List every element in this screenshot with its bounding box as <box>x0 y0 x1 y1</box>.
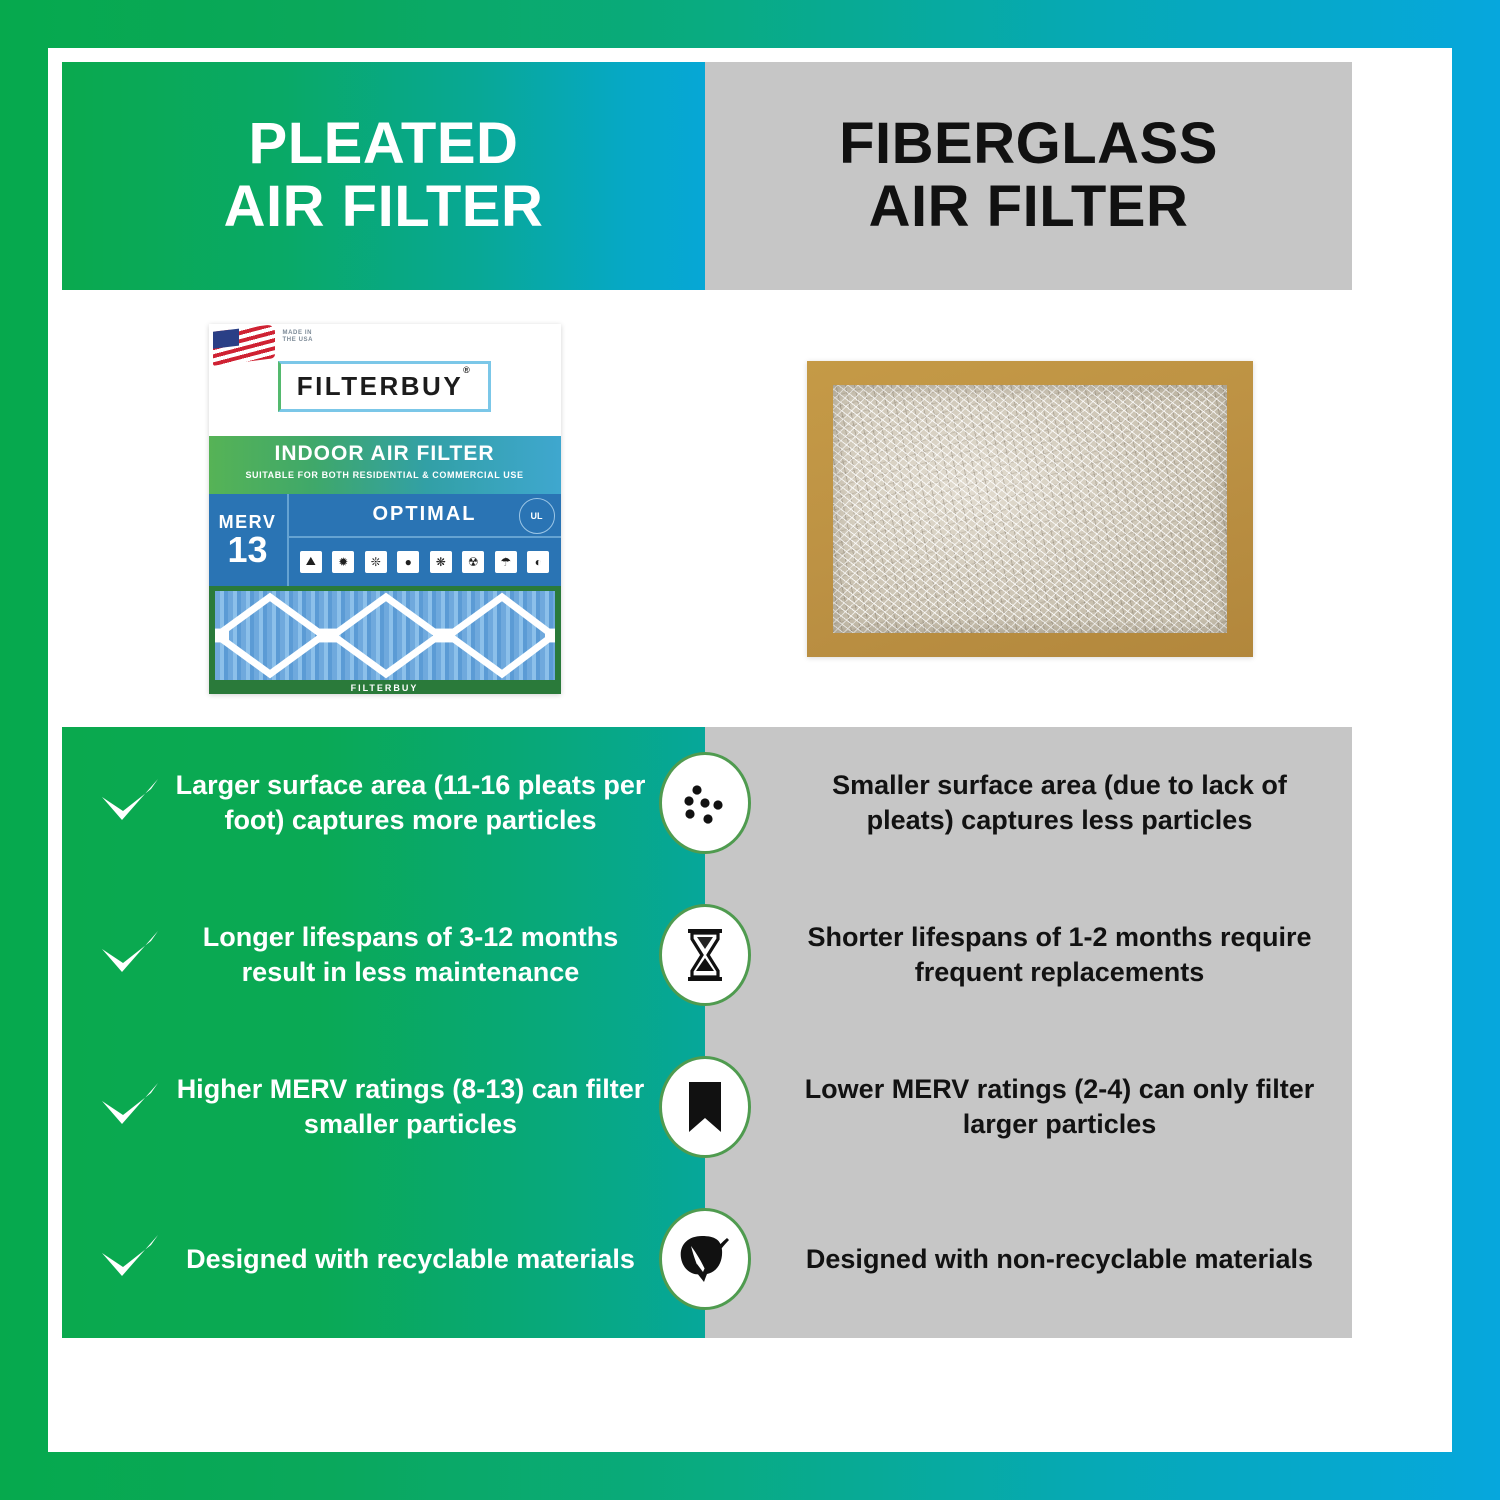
row-fiberglass-cell: Lower MERV ratings (2-4) can only filter… <box>705 1031 1352 1183</box>
header-fiberglass-title-line1: FIBERGLASS <box>839 113 1218 176</box>
product-image-row: MADE IN THE USA FILTERBUY® INDOOR AIR FI… <box>62 290 1352 727</box>
check-glyph <box>99 1233 161 1285</box>
eco-leaf-icon <box>659 1208 751 1310</box>
made-in-line1: MADE IN <box>283 330 314 338</box>
header-pleated-title-line2: AIR FILTER <box>224 176 544 239</box>
row-pleated-cell: Longer lifespans of 3-12 months result i… <box>62 879 705 1031</box>
row-fiberglass-text: Lower MERV ratings (2-4) can only filter… <box>795 1072 1324 1141</box>
pleated-media-area: FILTERBUY <box>209 586 561 694</box>
row-pleated-cell: Designed with recyclable materials <box>62 1183 705 1335</box>
pleated-package-top: MADE IN THE USA FILTERBUY® <box>209 324 561 436</box>
pleat-texture <box>215 591 555 680</box>
fiberglass-filter-image <box>807 361 1253 657</box>
usa-flag-icon <box>213 324 275 366</box>
registered-trademark-icon: ® <box>463 365 472 375</box>
row-fiberglass-cell: Smaller surface area (due to lack of ple… <box>705 727 1352 879</box>
bookmark-glyph <box>685 1080 725 1134</box>
row-pleated-cell: Larger surface area (11-16 pleats per fo… <box>62 727 705 879</box>
checkmark-icon <box>92 1233 168 1285</box>
row-pleated-text: Designed with recyclable materials <box>168 1242 705 1277</box>
smoke-smog-icon: ☂ <box>495 551 517 573</box>
header-fiberglass-title-line2: AIR FILTER <box>839 176 1218 239</box>
support-wire-icon <box>215 591 555 680</box>
ul-certification-icon: UL <box>519 498 555 534</box>
bacteria-icon: ☢ <box>462 551 484 573</box>
filterbuy-wordmark: FILTERBUY <box>297 371 463 401</box>
header-fiberglass-title: FIBERGLASS AIR FILTER <box>839 113 1218 238</box>
row-pleated-text: Higher MERV ratings (8-13) can filter sm… <box>168 1072 705 1141</box>
poster-content: PLEATED AIR FILTER FIBERGLASS AIR FILTER <box>62 62 1438 1438</box>
pleated-filter-image: MADE IN THE USA FILTERBUY® INDOOR AIR FI… <box>209 324 561 694</box>
hourglass-glyph <box>682 927 728 983</box>
pleated-footer-brand: FILTERBUY <box>209 683 561 693</box>
check-glyph <box>99 777 161 829</box>
pleated-product-cell: MADE IN THE USA FILTERBUY® INDOOR AIR FI… <box>62 290 707 727</box>
checkmark-icon <box>92 777 168 829</box>
filterbuy-logo-box: FILTERBUY® <box>278 361 492 412</box>
row-fiberglass-text: Smaller surface area (due to lack of ple… <box>795 768 1324 837</box>
pleated-package-specs: MERV 13 OPTIMAL ⛰ ✹ ❊ ● ❋ ☢ <box>209 494 561 586</box>
header-pleated-panel: PLEATED AIR FILTER <box>62 62 705 290</box>
row-pleated-text: Larger surface area (11-16 pleats per fo… <box>168 768 705 837</box>
row-pleated-text: Longer lifespans of 3-12 months result i… <box>168 920 705 989</box>
pleated-package-banner: INDOOR AIR FILTER SUITABLE FOR BOTH RESI… <box>209 436 561 494</box>
header-pleated-title-line1: PLEATED <box>224 113 544 176</box>
allergens-icon: ◐ <box>527 551 549 573</box>
pollen-icon: ❊ <box>365 551 387 573</box>
header-row: PLEATED AIR FILTER FIBERGLASS AIR FILTER <box>62 62 1352 290</box>
row-fiberglass-text: Designed with non-recyclable materials <box>795 1242 1324 1277</box>
made-in-usa-label: MADE IN THE USA <box>283 330 314 345</box>
fiberglass-media-texture <box>833 385 1227 633</box>
row-fiberglass-text: Shorter lifespans of 1-2 months require … <box>795 920 1324 989</box>
dust-debris-icon: ⛰ <box>300 551 322 573</box>
indoor-air-filter-label: INDOOR AIR FILTER <box>209 442 561 466</box>
check-glyph <box>99 1081 161 1133</box>
comparison-rows: Larger surface area (11-16 pleats per fo… <box>62 727 1352 1338</box>
checkmark-icon <box>92 929 168 981</box>
checkmark-icon <box>92 1081 168 1133</box>
ul-label: UL <box>531 511 543 521</box>
hourglass-icon <box>659 904 751 1006</box>
row-fiberglass-cell: Designed with non-recyclable materials <box>705 1183 1352 1335</box>
suitable-use-label: SUITABLE FOR BOTH RESIDENTIAL & COMMERCI… <box>209 470 561 480</box>
fiberglass-product-cell <box>707 290 1352 727</box>
row-pleated-cell: Higher MERV ratings (8-13) can filter sm… <box>62 1031 705 1183</box>
header-fiberglass-panel: FIBERGLASS AIR FILTER <box>705 62 1352 290</box>
eco-leaf-glyph <box>677 1232 733 1286</box>
check-glyph <box>99 929 161 981</box>
mold-icon: ● <box>397 551 419 573</box>
bookmark-icon <box>659 1056 751 1158</box>
pleated-spec-column: OPTIMAL ⛰ ✹ ❊ ● ❋ ☢ ☂ ◐ <box>289 494 561 586</box>
dust-mites-pollen-icon: ✹ <box>332 551 354 573</box>
made-in-line2: THE USA <box>283 337 314 345</box>
merv-badge: MERV 13 <box>209 494 289 586</box>
header-pleated-title: PLEATED AIR FILTER <box>224 113 544 238</box>
filterbuy-logo-text: FILTERBUY® <box>297 371 473 402</box>
merv-value: 13 <box>227 533 267 567</box>
infographic-poster: PLEATED AIR FILTER FIBERGLASS AIR FILTER <box>0 0 1500 1500</box>
lint-icon: ❋ <box>430 551 452 573</box>
particles-icon <box>659 752 751 854</box>
row-fiberglass-cell: Shorter lifespans of 1-2 months require … <box>705 879 1352 1031</box>
particles-glyph <box>677 775 733 831</box>
filtration-icon-strip: ⛰ ✹ ❊ ● ❋ ☢ ☂ ◐ <box>289 538 561 586</box>
